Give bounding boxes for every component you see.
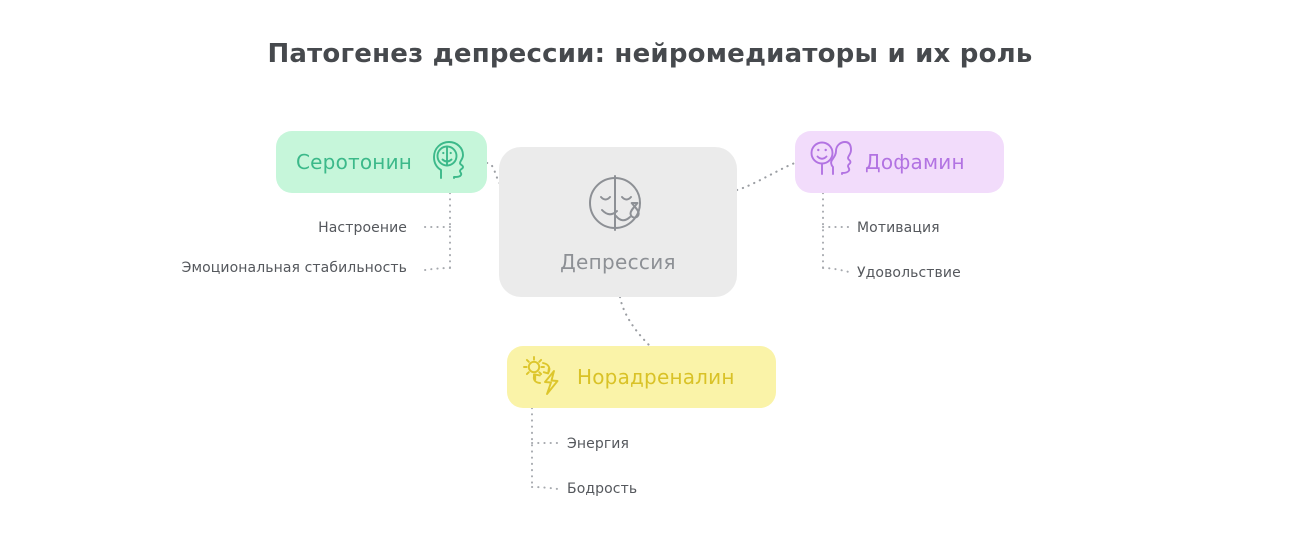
node-noradrenaline[interactable]: Норадреналин — [507, 346, 776, 408]
sun-lightning-bolt-icon — [521, 354, 565, 400]
connector-central-noradrenaline — [620, 297, 650, 346]
node-serotonin[interactable]: Серотонин — [276, 131, 487, 193]
sub-label-motivation: Мотивация — [857, 220, 1017, 236]
sub-label-energy: Энергия — [567, 436, 687, 452]
central-node-label: Депрессия — [560, 250, 676, 274]
page-title: Патогенез депрессии: нейромедиаторы и их… — [0, 39, 1300, 69]
connector-central-dopamine — [737, 163, 795, 190]
node-serotonin-label: Серотонин — [296, 150, 412, 174]
head-with-face-icon — [431, 140, 469, 184]
connector-dopamine-pleasure — [823, 268, 849, 272]
node-depression[interactable]: Депрессия — [499, 147, 737, 297]
connector-noradrenaline-vigor — [532, 487, 558, 489]
sub-label-emotional-stability: Эмоциональная стабильность — [179, 260, 407, 276]
diagram-canvas: Патогенез депрессии: нейромедиаторы и их… — [0, 0, 1300, 546]
node-noradrenaline-label: Норадреналин — [577, 365, 735, 389]
sub-label-pleasure: Удовольствие — [857, 265, 1037, 281]
node-dopamine-label: Дофамин — [865, 150, 965, 174]
half-happy-half-sad-face-icon — [584, 170, 652, 240]
node-dopamine[interactable]: Дофамин — [795, 131, 1004, 193]
connector-serotonin-emotional — [425, 268, 450, 270]
sub-label-vigor: Бодрость — [567, 481, 687, 497]
sub-label-mood: Настроение — [311, 220, 407, 236]
head-with-smiley-icon — [809, 140, 853, 184]
